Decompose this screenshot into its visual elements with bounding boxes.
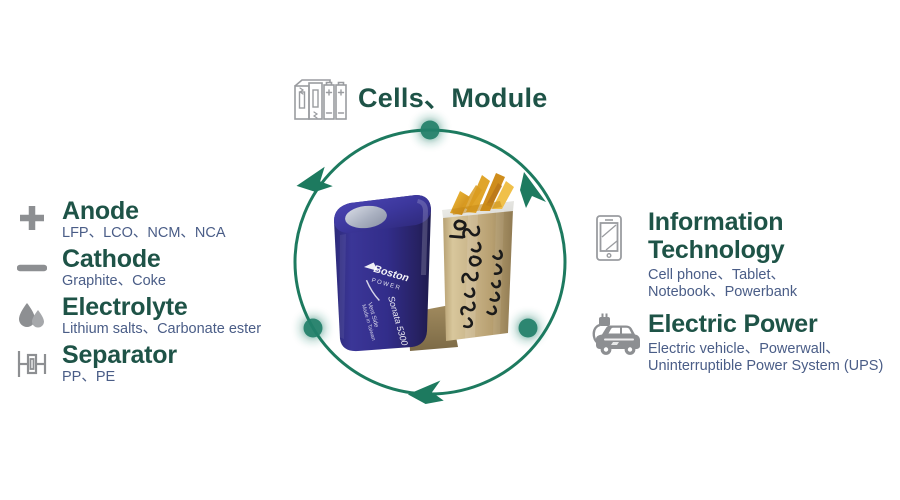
list-item-separator: Separator PP、PE <box>10 342 300 386</box>
materials-list: Anode LFP、LCO、NCM、NCA Cathode Graphite、C… <box>10 198 300 386</box>
ep-sub-line1: Electric vehicle、Powerwall、 <box>648 341 900 358</box>
cathode-sub: Graphite、Coke <box>62 273 300 290</box>
list-item-anode: Anode LFP、LCO、NCM、NCA <box>10 198 300 242</box>
minus-icon <box>10 248 54 288</box>
anode-sub: LFP、LCO、NCM、NCA <box>62 225 300 242</box>
plus-icon <box>10 198 54 238</box>
anode-heading: Anode <box>62 198 300 225</box>
separator-sub: PP、PE <box>62 369 300 386</box>
infographic-canvas: Cells、Module <box>0 0 900 500</box>
ep-heading-line1: Electric Power <box>648 310 900 338</box>
cathode-heading: Cathode <box>62 246 300 273</box>
electrolyte-heading: Electrolyte <box>62 294 300 321</box>
battery-cells-photo: Boston POWER Sonata 5300 Vent Side Made … <box>300 155 560 370</box>
it-sub-line2: Notebook、Powerbank <box>648 284 900 301</box>
list-item-cathode: Cathode Graphite、Coke <box>10 246 300 290</box>
electrolyte-sub: Lithium salts、Carbonate ester <box>62 321 300 338</box>
electric-car-icon <box>586 310 642 362</box>
applications-list: Information Technology Cell phone、Tablet… <box>586 208 900 375</box>
list-item-electrolyte: Electrolyte Lithium salts、Carbonate este… <box>10 294 300 338</box>
list-item-electric-power: Electric Power Electric vehicle、Powerwal… <box>586 310 900 375</box>
prismatic-cell-blue: Boston POWER Sonata 5300 Vent Side Made … <box>334 195 431 351</box>
cycle-node-top <box>421 121 440 140</box>
separator-icon <box>10 344 54 384</box>
smartphone-icon <box>586 212 632 264</box>
separator-heading: Separator <box>62 342 300 369</box>
pouch-cell-gold <box>442 173 514 341</box>
list-item-information-technology: Information Technology Cell phone、Tablet… <box>586 208 900 301</box>
it-sub-line1: Cell phone、Tablet、 <box>648 267 900 284</box>
it-heading-line2: Technology <box>648 236 900 264</box>
droplets-icon <box>10 296 54 336</box>
ep-sub-line2: Uninterruptible Power System (UPS) <box>648 358 900 375</box>
it-heading-line1: Information <box>648 208 900 236</box>
